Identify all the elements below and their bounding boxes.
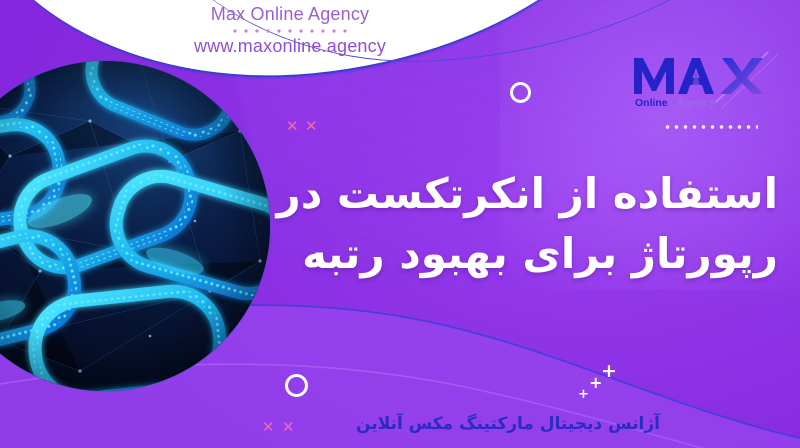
banner-canvas: Max Online Agency www.maxonline.agency [0,0,800,448]
svg-text:Agency: Agency [677,97,715,109]
title-line-2: رپورتاژ برای بهبود رتبه [258,224,778,284]
footer-tagline: آژانس دیجیتال مارکتینگ مکس آنلاین [356,414,660,434]
svg-text:Online: Online [635,97,668,109]
max-logo-icon: Online Agency [630,52,778,110]
hero-image [0,61,270,391]
page-title: استفاده از انکرتکست در رپورتاژ برای بهبو… [258,164,778,283]
max-logo[interactable]: Online Agency [630,52,778,110]
chain-links-illustration [0,61,270,391]
title-line-1: استفاده از انکرتکست در [258,164,778,224]
